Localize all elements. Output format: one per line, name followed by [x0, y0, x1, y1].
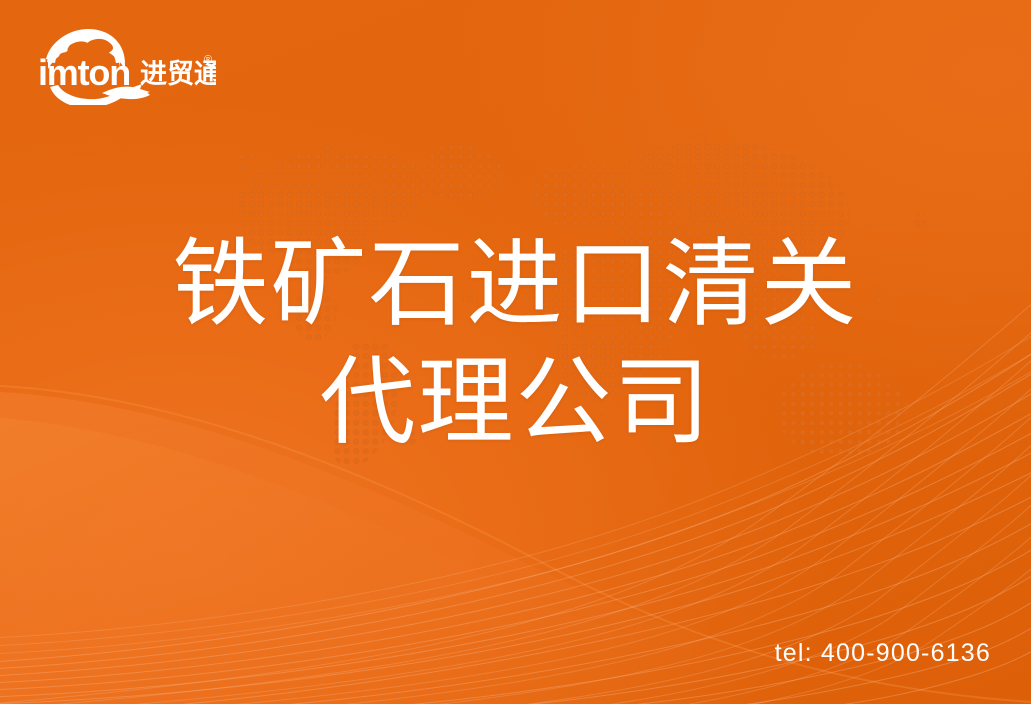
promo-banner: imton 进贸通 ® 铁矿石进口清关 代理公司 tel: 400-900-61…: [0, 0, 1031, 704]
page-title-line-2: 代理公司: [0, 344, 1031, 462]
brand-logo[interactable]: imton 进贸通 ®: [36, 29, 216, 105]
contact-phone[interactable]: tel: 400-900-6136: [775, 639, 991, 668]
page-title: 铁矿石进口清关 代理公司: [0, 226, 1031, 462]
page-title-line-1: 铁矿石进口清关: [0, 226, 1031, 344]
registered-trademark-icon: ®: [204, 54, 212, 66]
